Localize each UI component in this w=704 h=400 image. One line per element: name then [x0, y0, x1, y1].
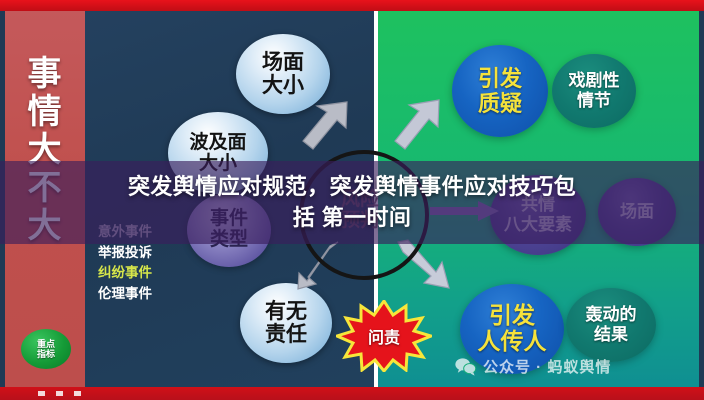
caption-overlay-band: 突发舆情应对规范，突发舆情事件应对技巧包 括 第一时间 — [0, 161, 704, 244]
node-responsibility-line2: 责任 — [265, 323, 307, 346]
rail-tick-2 — [56, 391, 63, 396]
node-impact-scope-line1: 波及面 — [189, 132, 246, 153]
node-person-to-person-line1: 引发 — [489, 303, 535, 329]
rail-tick-3 — [74, 391, 81, 396]
bullet-item-2[interactable]: 举报投诉 — [98, 243, 152, 264]
vtitle-char-2: 情 — [5, 93, 85, 131]
node-responsibility-line1: 有无 — [265, 300, 307, 323]
node-dramatic-plot[interactable]: 戏剧性 情节 — [552, 54, 636, 128]
caption-line-1: 突发舆情应对规范，突发舆情事件应对技巧包 — [42, 172, 662, 202]
wechat-icon — [455, 357, 476, 376]
wechat-watermark: 公众号 · 蚂蚁舆情 — [455, 356, 611, 377]
kpi-line-2: 指标 — [37, 349, 55, 359]
node-dramatic-plot-line2: 情节 — [577, 91, 611, 111]
node-trigger-doubt-line1: 引发 — [478, 66, 522, 91]
node-person-to-person-line2: 人传人 — [478, 329, 547, 355]
kpi-badge: 重点 指标 — [21, 329, 71, 369]
bullet-item-4[interactable]: 伦理事件 — [98, 284, 152, 305]
node-scene-size-line1: 场面 — [262, 51, 304, 74]
node-sensational-result-line2: 结果 — [594, 325, 628, 345]
bottom-red-rail — [0, 387, 704, 400]
node-trigger-doubt-line2: 质疑 — [478, 91, 522, 116]
accountability-starburst[interactable] — [336, 300, 432, 372]
arrow-up-right-blue — [300, 98, 352, 156]
node-trigger-doubt[interactable]: 引发 质疑 — [452, 45, 548, 137]
node-scene-size-line2: 大小 — [262, 74, 304, 97]
rail-tick-1 — [38, 391, 45, 396]
vtitle-char-1: 事 — [5, 55, 85, 93]
bullet-item-3[interactable]: 纠纷事件 — [98, 263, 152, 284]
node-sensational-result[interactable]: 轰动的 结果 — [566, 288, 656, 362]
kpi-line-1: 重点 — [37, 339, 55, 349]
top-red-rail — [0, 0, 704, 11]
node-dramatic-plot-line1: 戏剧性 — [569, 71, 620, 91]
watermark-text: 公众号 · 蚂蚁舆情 — [483, 356, 611, 377]
caption-text: 突发舆情应对规范，突发舆情事件应对技巧包 括 第一时间 — [42, 172, 662, 233]
node-sensational-result-line1: 轰动的 — [586, 305, 637, 325]
slide-image: 事 情 大 不 大 重点 指标 场面 大小 波及面 大小 事件 类型 — [0, 0, 704, 400]
node-responsibility[interactable]: 有无 责任 — [240, 283, 332, 363]
caption-line-2: 括 第一时间 — [42, 203, 662, 233]
arrow-up-right-green — [392, 96, 444, 156]
